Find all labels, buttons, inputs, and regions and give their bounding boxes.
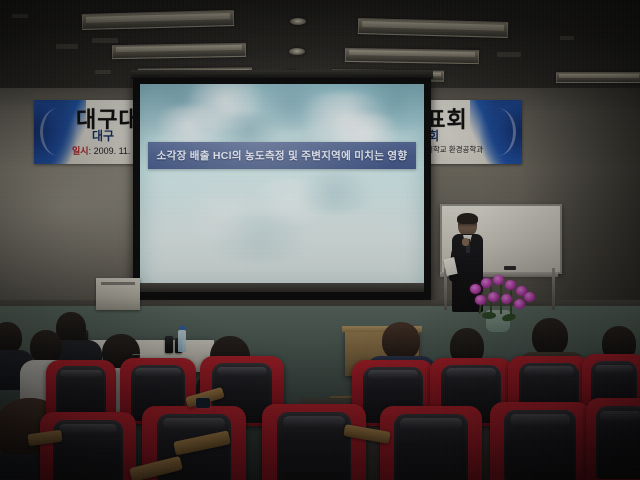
auditorium-seat[interactable] [490, 402, 590, 480]
slide-title-text: 소각장 배출 HCl의 농도측정 및 주변지역에 미치는 영향 [157, 148, 408, 163]
drink-can [165, 336, 173, 353]
orchid-bloom [475, 295, 486, 305]
orchid-bloom [501, 294, 512, 304]
ceiling-downlight [289, 48, 305, 55]
orchid-bloom [514, 299, 525, 309]
auditorium-seat[interactable] [380, 406, 482, 480]
presenter-hand [462, 238, 469, 246]
orchid-bloom [481, 278, 492, 288]
banner-date-label: 일시 [72, 146, 89, 156]
orchid-bloom [524, 292, 535, 302]
whiteboard-leg [552, 268, 555, 310]
orchid-bloom [488, 292, 499, 302]
auditorium-seat[interactable] [262, 404, 366, 480]
orchid-bloom [505, 280, 516, 290]
whiteboard-marker [504, 266, 516, 270]
ceiling-vent [92, 38, 118, 43]
orchid-bloom [493, 275, 504, 285]
photo-scene: 대구대 대구 일시: 2009. 11. 20(금) 발표회 발표회 : 대구대… [0, 0, 640, 480]
ceiling-vent [12, 14, 28, 18]
projection-screen: 소각장 배출 HCl의 농도측정 및 주변지역에 미치는 영향 [140, 84, 424, 290]
slide-title-bar: 소각장 배출 HCl의 농도측정 및 주변지역에 미치는 영향 [148, 142, 416, 169]
auditorium-seat[interactable] [40, 412, 136, 480]
water-bottle [178, 330, 186, 352]
wall-cabinet [96, 278, 140, 310]
ceiling-vent [95, 70, 111, 74]
ceiling-vent [497, 52, 521, 57]
ceiling-vent [56, 44, 78, 49]
ceiling-vent [560, 36, 574, 40]
orchid-leaf [482, 312, 496, 319]
ceiling-downlight [290, 18, 306, 25]
ceiling-light-fixture [345, 48, 479, 64]
armrest-device [196, 398, 210, 408]
presenter-hair [457, 213, 478, 224]
projection-screen-bottom-bar [140, 283, 424, 292]
ceiling-light-fixture [556, 72, 640, 83]
auditorium-seat[interactable] [586, 398, 640, 480]
orchid-bloom [470, 284, 481, 294]
ceiling-light-fixture [112, 43, 246, 59]
orchid-arrangement [460, 278, 538, 332]
banner-subtitle-left: 대구 [92, 127, 114, 144]
